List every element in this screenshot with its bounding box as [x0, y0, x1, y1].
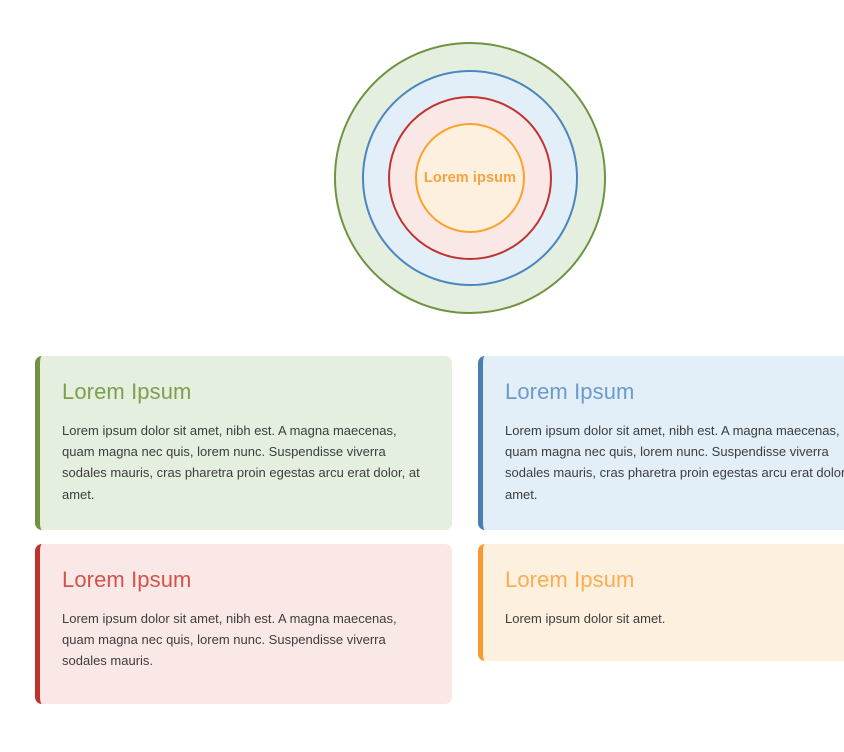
- card-orange[interactable]: Lorem Ipsum Lorem ipsum dolor sit amet.: [478, 544, 844, 661]
- circle-ring-blue: Lorem ipsum: [362, 70, 578, 286]
- card-red[interactable]: Lorem Ipsum Lorem ipsum dolor sit amet, …: [35, 544, 452, 704]
- card-orange-body: Lorem ipsum dolor sit amet.: [505, 608, 844, 629]
- circle-ring-red: Lorem ipsum: [388, 96, 552, 260]
- card-blue[interactable]: Lorem Ipsum Lorem ipsum dolor sit amet, …: [478, 356, 844, 530]
- card-green[interactable]: Lorem Ipsum Lorem ipsum dolor sit amet, …: [35, 356, 452, 530]
- circle-ring-outer-green: Lorem ipsum: [334, 42, 606, 314]
- card-blue-body: Lorem ipsum dolor sit amet, nibh est. A …: [505, 420, 844, 506]
- circle-core-label: Lorem ipsum: [424, 170, 516, 186]
- card-orange-title: Lorem Ipsum: [505, 566, 844, 594]
- card-green-body: Lorem ipsum dolor sit amet, nibh est. A …: [62, 420, 426, 506]
- circle-ring-core-orange: Lorem ipsum: [415, 123, 525, 233]
- card-blue-title: Lorem Ipsum: [505, 378, 844, 406]
- concentric-circle-diagram: Lorem ipsum: [334, 42, 606, 314]
- card-red-title: Lorem Ipsum: [62, 566, 426, 594]
- card-green-title: Lorem Ipsum: [62, 378, 426, 406]
- card-red-body: Lorem ipsum dolor sit amet, nibh est. A …: [62, 608, 426, 672]
